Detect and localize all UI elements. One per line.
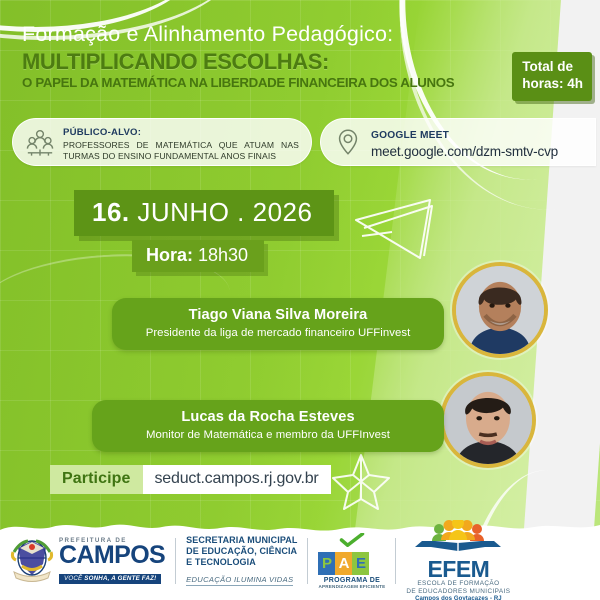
- footer-divider-3: [395, 538, 396, 584]
- participate-row: Participe seduct.campos.rj.gov.br: [50, 465, 331, 494]
- speaker-name: Lucas da Rocha Esteves: [106, 409, 430, 425]
- page-title: MULTIPLICANDO ESCOLHAS:: [22, 50, 522, 73]
- speaker-card-2: Lucas da Rocha Esteves Monitor de Matemá…: [92, 400, 444, 452]
- logo-prefeitura-campos: PREFEITURA DE CAMPOS VOCÊ SONHA, A GENTE…: [10, 536, 165, 586]
- pae-letter-a: A: [335, 552, 352, 575]
- google-meet-pill[interactable]: GOOGLE MEET meet.google.com/dzm-smtv-cvp: [320, 118, 596, 166]
- efem-line-2: DE EDUCADORES MUNICIPAIS: [406, 588, 510, 596]
- location-pin-icon: [333, 127, 363, 157]
- secretaria-line-3: E TECNOLOGIA: [186, 557, 297, 568]
- logo-efem: EFEM ESCOLA DE FORMAÇÃO DE EDUCADORES MU…: [406, 520, 510, 600]
- logo-secretaria: SECRETARIA MUNICIPAL DE EDUCAÇÃO, CIÊNCI…: [186, 535, 297, 587]
- event-date-bar: 16. JUNHO . 2026: [74, 190, 334, 236]
- secretaria-slogan: EDUCAÇÃO ILUMINA VIDAS: [186, 575, 293, 586]
- total-hours-line-2: horas: 4h: [522, 76, 583, 93]
- pae-letter-p: P: [318, 552, 335, 575]
- poster-title-block: Formação e Alinhamento Pedagógico: MULTI…: [22, 22, 522, 91]
- star-doodle-icon: [330, 452, 392, 515]
- target-audience-text: PÚBLICO-ALVO: PROFESSORES DE MATEMÁTICA …: [63, 122, 299, 163]
- triangle-doodle-icon: [352, 192, 438, 271]
- speaker-role: Monitor de Matemática e membro da UFFInv…: [106, 429, 430, 441]
- pae-letter-blocks: P A E: [318, 552, 385, 575]
- pae-line-2: APRENDIZAGEM EFICIENTE: [318, 584, 385, 589]
- efem-people-book-icon: [415, 520, 501, 554]
- google-meet-url[interactable]: meet.google.com/dzm-smtv-cvp: [371, 144, 583, 159]
- secretaria-line-1: SECRETARIA MUNICIPAL: [186, 535, 297, 546]
- campos-tagline-1: VOCÊ: [64, 575, 84, 582]
- speaker-photo-lucas: [440, 372, 536, 468]
- total-hours-line-1: Total de: [522, 59, 583, 76]
- footer-divider-2: [307, 538, 308, 584]
- check-mark-icon: [337, 533, 367, 547]
- participate-label: Participe: [50, 465, 143, 494]
- efem-name: EFEM: [406, 559, 510, 580]
- event-day: 16.: [92, 197, 130, 227]
- footer-divider-1: [175, 538, 176, 584]
- event-time-label: Hora:: [146, 245, 193, 265]
- group-people-icon: [25, 127, 55, 157]
- efem-line-3: Campos dos Goytacazes - RJ: [406, 596, 510, 600]
- campos-name: CAMPOS: [59, 544, 165, 568]
- google-meet-heading: GOOGLE MEET: [371, 130, 449, 141]
- speaker-photo-tiago: [452, 262, 548, 358]
- speaker-role: Presidente da liga de mercado financeiro…: [126, 327, 430, 339]
- event-month-year: JUNHO . 2026: [130, 197, 313, 227]
- pae-letter-e: E: [352, 552, 369, 575]
- campos-tagline-2: SONHA, A GENTE FAZ!: [84, 575, 156, 582]
- title-subtitle-line: Formação e Alinhamento Pedagógico:: [22, 22, 522, 47]
- footer-logos: PREFEITURA DE CAMPOS VOCÊ SONHA, A GENTE…: [0, 522, 600, 600]
- speaker-card-1: Tiago Viana Silva Moreira Presidente da …: [112, 298, 444, 350]
- event-poster: Formação e Alinhamento Pedagógico: MULTI…: [0, 0, 600, 600]
- secretaria-line-2: DE EDUCAÇÃO, CIÊNCIA: [186, 546, 297, 557]
- campos-coat-of-arms-icon: [10, 536, 54, 586]
- target-audience-body: PROFESSORES DE MATEMÁTICA QUE ATUAM NAS …: [63, 140, 299, 163]
- efem-line-1: ESCOLA DE FORMAÇÃO: [406, 580, 510, 588]
- target-audience-pill: PÚBLICO-ALVO: PROFESSORES DE MATEMÁTICA …: [12, 118, 312, 166]
- pae-line-1: PROGRAMA DE: [318, 577, 385, 584]
- title-description: O PAPEL DA MATEMÁTICA NA LIBERDADE FINAN…: [22, 75, 492, 91]
- google-meet-text: GOOGLE MEET meet.google.com/dzm-smtv-cvp: [371, 125, 583, 159]
- event-time-value: 18h30: [193, 245, 248, 265]
- campos-tagline: VOCÊ SONHA, A GENTE FAZ!: [59, 574, 161, 584]
- campos-wordmark: PREFEITURA DE CAMPOS VOCÊ SONHA, A GENTE…: [59, 538, 165, 584]
- participate-url[interactable]: seduct.campos.rj.gov.br: [143, 465, 331, 494]
- event-time-bar: Hora: 18h30: [132, 240, 264, 272]
- logo-pae: P A E PROGRAMA DE APRENDIZAGEM EFICIENTE: [318, 533, 385, 589]
- target-audience-heading: PÚBLICO-ALVO:: [63, 127, 141, 138]
- speaker-name: Tiago Viana Silva Moreira: [126, 307, 430, 323]
- total-hours-badge: Total de horas: 4h: [512, 52, 592, 101]
